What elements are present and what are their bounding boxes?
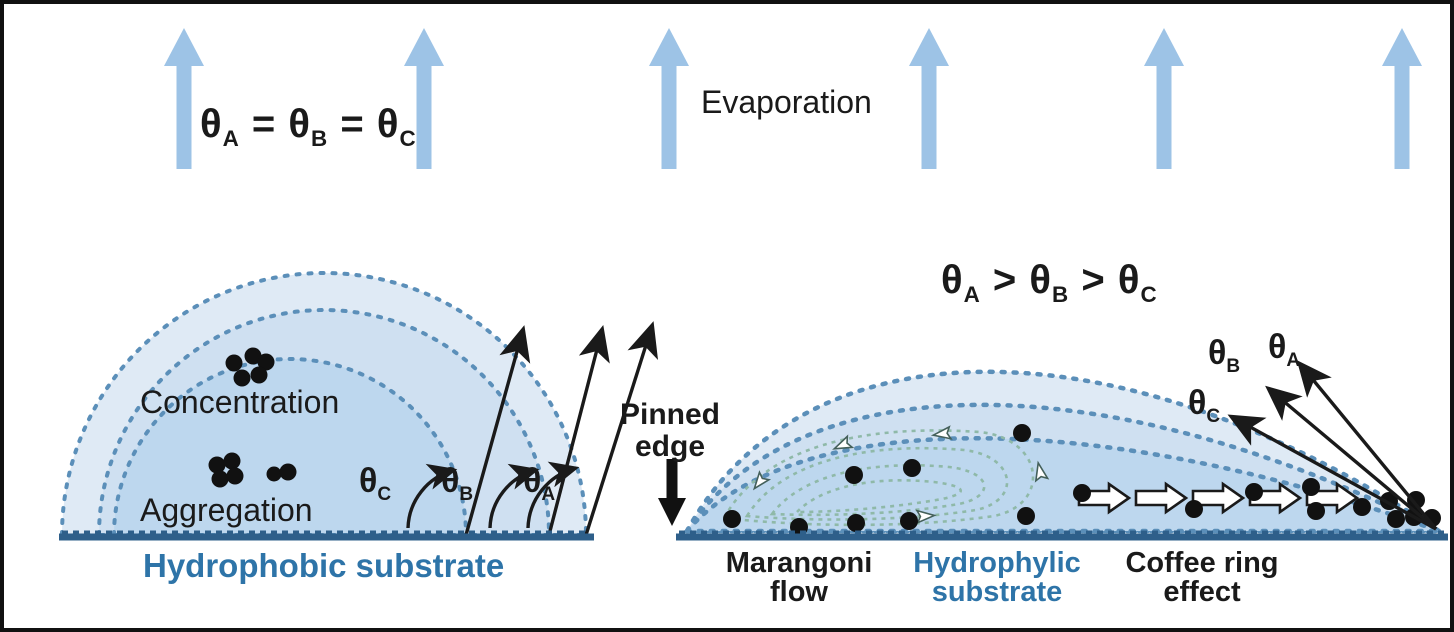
- evaporation-arrow: [164, 28, 204, 169]
- left-theta-c-label: θC: [359, 464, 391, 504]
- theta-b-subscript: B: [1052, 282, 1069, 307]
- right-droplet: [658, 364, 1448, 537]
- evaporation-arrow: [1144, 28, 1184, 169]
- right-angle-relation: θA > θB > θC: [941, 260, 1158, 306]
- theta-symbol: θ: [441, 462, 459, 500]
- right-relation-op-1: >: [993, 258, 1017, 302]
- right-theta-a-label: θA: [1268, 330, 1300, 370]
- hydrophobic-substrate-line: [59, 532, 594, 537]
- hydrophobic-substrate-label: Hydrophobic substrate: [143, 549, 504, 582]
- left-relation-op-1: =: [252, 102, 276, 146]
- theta-c-symbol: θ: [1118, 258, 1141, 302]
- theta-a-subscript: A: [223, 126, 240, 151]
- hydrophylic-substrate-line-2: substrate: [902, 578, 1092, 607]
- hydrophylic-substrate-line-1: Hydrophylic: [902, 549, 1092, 578]
- left-theta-b-label: θB: [441, 464, 473, 504]
- theta-symbol: θ: [359, 462, 377, 500]
- pinned-edge-arrow: [658, 459, 686, 526]
- theta-b-symbol: θ: [288, 102, 311, 146]
- evaporation-arrow: [1382, 28, 1422, 169]
- left-relation-op-2: =: [340, 102, 364, 146]
- pinned-edge-label: Pinned edge: [608, 399, 732, 462]
- aggregation-label: Aggregation: [140, 494, 313, 526]
- theta-a-symbol: θ: [200, 102, 223, 146]
- pinned-edge-line-1: Pinned: [608, 399, 732, 431]
- marangoni-flow-line-2: flow: [704, 578, 894, 607]
- theta-symbol: θ: [1188, 384, 1206, 422]
- figure-canvas: θA = θB = θC Evaporation θA > θB > θC Co…: [0, 0, 1454, 632]
- theta-subscript: B: [1226, 356, 1240, 377]
- theta-subscript: C: [1206, 406, 1220, 427]
- evaporation-arrow: [909, 28, 949, 169]
- theta-c-subscript: C: [399, 126, 416, 151]
- coffee-ring-effect-line-1: Coffee ring: [1102, 549, 1302, 578]
- theta-c-subscript: C: [1140, 282, 1157, 307]
- left-angle-relation: θA = θB = θC: [200, 104, 417, 150]
- theta-a-symbol: θ: [941, 258, 964, 302]
- theta-a-subscript: A: [964, 282, 981, 307]
- evaporation-label: Evaporation: [701, 86, 872, 118]
- theta-subscript: B: [459, 484, 473, 505]
- theta-symbol: θ: [523, 462, 541, 500]
- theta-symbol: θ: [1268, 328, 1286, 366]
- coffee-ring-effect-label: Coffee ring effect: [1102, 549, 1302, 607]
- right-relation-op-2: >: [1081, 258, 1105, 302]
- hydrophylic-substrate-label: Hydrophylic substrate: [902, 549, 1092, 607]
- right-theta-c-label: θC: [1188, 386, 1220, 426]
- concentration-label: Concentration: [140, 386, 339, 418]
- theta-subscript: C: [377, 484, 391, 505]
- theta-c-symbol: θ: [377, 102, 400, 146]
- theta-b-subscript: B: [311, 126, 328, 151]
- theta-symbol: θ: [1208, 334, 1226, 372]
- theta-subscript: A: [1286, 350, 1300, 371]
- theta-b-symbol: θ: [1029, 258, 1052, 302]
- coffee-ring-effect-line-2: effect: [1102, 578, 1302, 607]
- evaporation-arrow: [649, 28, 689, 169]
- pinned-edge-line-2: edge: [608, 431, 732, 463]
- left-theta-a-label: θA: [523, 464, 555, 504]
- marangoni-flow-label: Marangoni flow: [704, 549, 894, 607]
- marangoni-flow-line-1: Marangoni: [704, 549, 894, 578]
- right-theta-b-label: θB: [1208, 336, 1240, 376]
- theta-subscript: A: [541, 484, 555, 505]
